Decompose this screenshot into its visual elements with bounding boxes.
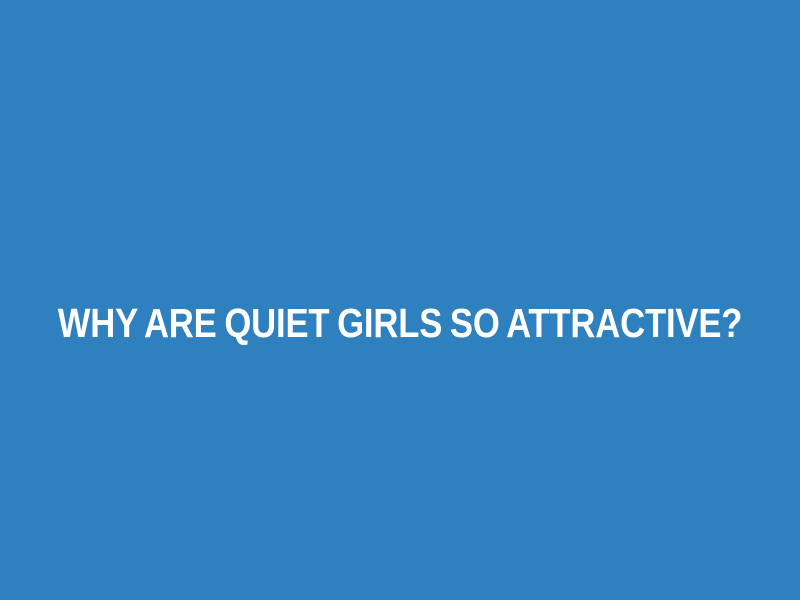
featured-image-card: WHY ARE QUIET GIRLS SO ATTRACTIVE? (0, 0, 800, 600)
page-title: WHY ARE QUIET GIRLS SO ATTRACTIVE? (58, 308, 742, 338)
headline-container: WHY ARE QUIET GIRLS SO ATTRACTIVE? (0, 281, 800, 366)
